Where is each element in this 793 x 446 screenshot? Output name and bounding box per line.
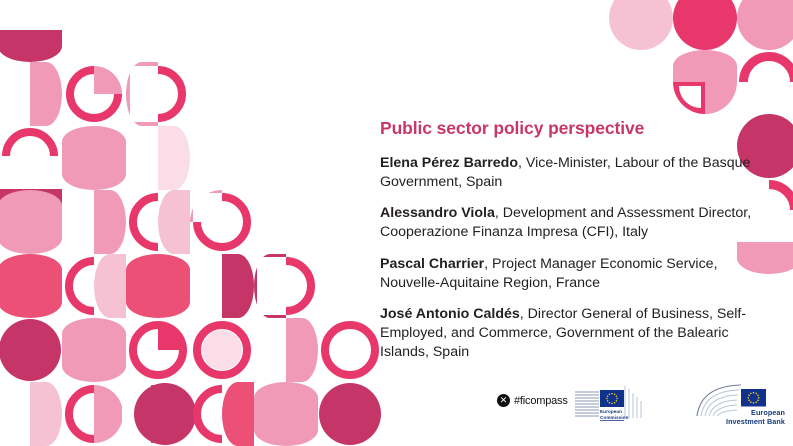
page-title: Public sector policy perspective bbox=[380, 118, 770, 140]
pattern-shape bbox=[769, 82, 793, 112]
pattern-shape bbox=[158, 126, 190, 190]
pattern-shape bbox=[158, 193, 187, 222]
speaker-name: Pascal Charrier bbox=[380, 256, 484, 272]
pattern-shape bbox=[130, 94, 158, 122]
pattern-shape bbox=[158, 321, 187, 350]
european-investment-bank-logo: European Investment Bank bbox=[695, 382, 787, 428]
content-column: Public sector policy perspective Elena P… bbox=[380, 118, 770, 362]
pattern-shape bbox=[193, 193, 222, 222]
pattern-shape bbox=[609, 0, 673, 50]
speaker-name: Alessandro Viola bbox=[380, 205, 495, 221]
pattern-shape bbox=[222, 254, 254, 318]
pattern-shape bbox=[286, 318, 318, 382]
pattern-shape bbox=[673, 0, 737, 50]
pattern-shape bbox=[2, 156, 30, 184]
pattern-shape bbox=[130, 66, 158, 94]
speaker-entry: Elena Pérez Barredo, Vice-Minister, Labo… bbox=[380, 154, 770, 192]
pattern-shape bbox=[0, 222, 62, 254]
pattern-shape bbox=[94, 66, 122, 94]
hashtag-ficompass: ✕ #ficompass bbox=[497, 394, 568, 407]
pattern-shape bbox=[257, 257, 315, 315]
footer: ✕ #ficompass bbox=[0, 380, 793, 438]
speaker-entry: Pascal Charrier, Project Manager Economi… bbox=[380, 255, 770, 293]
pattern-shape bbox=[94, 190, 126, 254]
pattern-shape bbox=[0, 189, 62, 221]
pattern-shape bbox=[202, 330, 242, 370]
pattern-shape bbox=[62, 318, 126, 350]
pattern-shape bbox=[193, 321, 251, 379]
speaker-entry: Alessandro Viola, Development and Assess… bbox=[380, 204, 770, 242]
pattern-shape bbox=[126, 254, 190, 286]
pattern-shape bbox=[94, 286, 123, 315]
pattern-shape bbox=[158, 321, 187, 350]
pattern-shape bbox=[94, 257, 123, 286]
ec-logo-caption: European Commission bbox=[600, 409, 629, 420]
pattern-shape bbox=[130, 66, 186, 122]
pattern-shape bbox=[62, 350, 126, 382]
pattern-shape bbox=[0, 286, 62, 318]
pattern-shape bbox=[30, 156, 58, 184]
pattern-shape bbox=[673, 50, 737, 82]
speaker-name: José Antonio Caldés bbox=[380, 306, 520, 322]
pattern-shape bbox=[62, 126, 126, 158]
pattern-shape bbox=[673, 82, 705, 114]
pattern-shape bbox=[679, 86, 701, 108]
pattern-shape bbox=[30, 62, 62, 126]
pattern-shape bbox=[739, 52, 793, 112]
pattern-shape bbox=[286, 318, 318, 350]
pattern-shape bbox=[0, 319, 61, 381]
pattern-shape bbox=[254, 254, 286, 318]
pattern-shape bbox=[126, 62, 158, 126]
pattern-shape bbox=[158, 190, 190, 254]
pattern-shape bbox=[0, 190, 62, 222]
pattern-shape bbox=[126, 286, 190, 318]
x-twitter-icon: ✕ bbox=[497, 394, 510, 407]
speaker-name: Elena Pérez Barredo bbox=[380, 155, 518, 171]
pattern-shape bbox=[321, 321, 379, 379]
pattern-shape bbox=[129, 193, 187, 251]
pattern-shape bbox=[62, 158, 126, 190]
pattern-shape bbox=[65, 257, 123, 315]
pattern-shape bbox=[2, 128, 58, 184]
pattern-shape bbox=[257, 257, 286, 286]
pattern-shape bbox=[0, 254, 62, 286]
pattern-shape bbox=[190, 190, 222, 222]
eib-logo-caption: European Investment Bank bbox=[695, 408, 785, 426]
pattern-shape bbox=[158, 222, 187, 251]
european-commission-logo: European Commission bbox=[573, 384, 653, 428]
pattern-shape bbox=[129, 321, 187, 379]
pattern-shape bbox=[737, 0, 793, 50]
pattern-shape bbox=[739, 82, 769, 112]
pattern-shape bbox=[126, 94, 158, 126]
pattern-shape bbox=[66, 66, 122, 122]
pattern-shape bbox=[257, 286, 286, 315]
pattern-shape bbox=[0, 30, 62, 62]
ec-logo-svg bbox=[573, 384, 653, 428]
pattern-shape bbox=[193, 193, 251, 251]
presentation-slide: Public sector policy perspective Elena P… bbox=[0, 0, 793, 446]
pattern-shape bbox=[94, 254, 126, 318]
pattern-shape bbox=[94, 66, 122, 94]
speaker-entry: José Antonio Caldés, Director General of… bbox=[380, 305, 770, 363]
hashtag-label: #ficompass bbox=[514, 395, 568, 407]
pattern-shape bbox=[769, 210, 793, 240]
pattern-shape bbox=[705, 82, 737, 114]
